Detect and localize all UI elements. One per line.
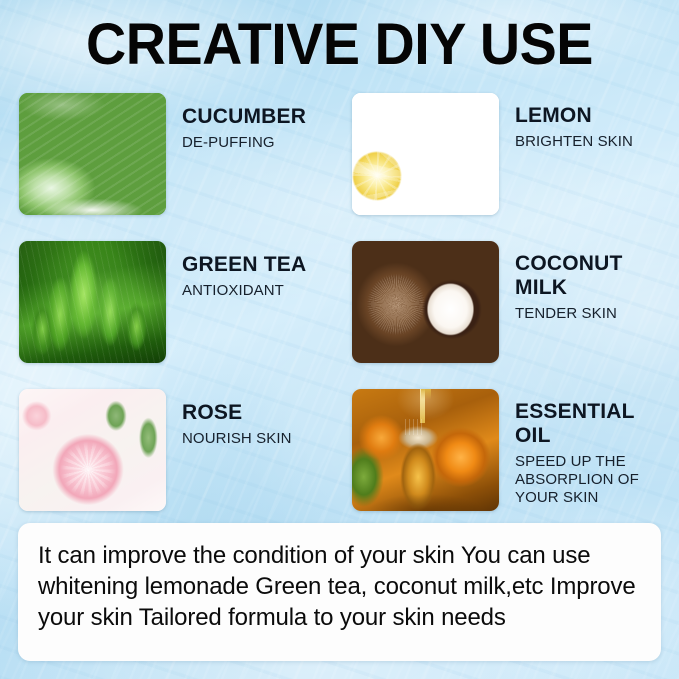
benefit-name: ROSE xyxy=(182,401,292,425)
benefit-item-cucumber: CUCUMBER DE-PUFFING xyxy=(19,93,337,215)
rose-photo-icon xyxy=(19,389,166,511)
benefit-text-lemon: LEMON BRIGHTEN SKIN xyxy=(499,93,633,151)
benefits-row: CUCUMBER DE-PUFFING LEMON BRIGHTEN SKIN xyxy=(0,93,679,241)
benefit-description: NOURISH SKIN xyxy=(182,430,292,448)
page-title: CREATIVE DIY USE xyxy=(14,14,666,76)
benefit-description: ANTIOXIDANT xyxy=(182,282,306,300)
benefit-text-green-tea: GREEN TEA ANTIOXIDANT xyxy=(166,241,306,300)
essential-oil-thumbnail xyxy=(352,389,499,511)
benefit-name: CUCUMBER xyxy=(182,105,306,129)
benefit-text-cucumber: CUCUMBER DE-PUFFING xyxy=(166,93,306,152)
caption-panel: It can improve the condition of your ski… xyxy=(18,523,661,661)
essential-oil-photo-icon xyxy=(352,389,499,511)
benefit-name: LEMON xyxy=(515,104,633,128)
benefit-description: DE-PUFFING xyxy=(182,134,306,152)
coconut-photo-icon xyxy=(352,241,499,363)
benefit-name: COCONUT MILK xyxy=(515,252,623,300)
coconut-thumbnail xyxy=(352,241,499,363)
benefit-text-rose: ROSE NOURISH SKIN xyxy=(166,389,292,448)
green-tea-photo-icon xyxy=(19,241,166,363)
benefit-item-green-tea: GREEN TEA ANTIOXIDANT xyxy=(19,241,337,363)
benefits-grid: CUCUMBER DE-PUFFING LEMON BRIGHTEN SKIN xyxy=(0,93,679,537)
benefit-name: ESSENTIAL OIL xyxy=(515,400,639,448)
benefit-item-rose: ROSE NOURISH SKIN xyxy=(19,389,337,511)
lemon-photo-icon xyxy=(352,93,499,215)
product-infographic-poster: CREATIVE DIY USE CUCUMBER DE-PUFFING LEM… xyxy=(0,0,679,679)
benefit-item-lemon: LEMON BRIGHTEN SKIN xyxy=(352,93,672,215)
benefit-description: TENDER SKIN xyxy=(515,305,623,323)
benefit-description: SPEED UP THE ABSORPLION OF YOUR SKIN xyxy=(515,453,639,507)
cucumber-photo-icon xyxy=(19,93,166,215)
benefit-name: GREEN TEA xyxy=(182,253,306,277)
benefit-text-coconut-milk: COCONUT MILK TENDER SKIN xyxy=(499,241,623,323)
cucumber-thumbnail xyxy=(19,93,166,215)
benefit-text-essential-oil: ESSENTIAL OIL SPEED UP THE ABSORPLION OF… xyxy=(499,389,639,507)
green-tea-thumbnail xyxy=(19,241,166,363)
benefits-row: GREEN TEA ANTIOXIDANT COCONUT MILK TENDE… xyxy=(0,241,679,389)
lemon-thumbnail xyxy=(352,93,499,215)
benefit-item-essential-oil: ESSENTIAL OIL SPEED UP THE ABSORPLION OF… xyxy=(352,389,672,511)
benefit-item-coconut-milk: COCONUT MILK TENDER SKIN xyxy=(352,241,672,363)
benefit-description: BRIGHTEN SKIN xyxy=(515,133,633,151)
caption-text: It can improve the condition of your ski… xyxy=(38,540,641,633)
benefits-row: ROSE NOURISH SKIN ESSENTIAL OIL SPEED UP… xyxy=(0,389,679,537)
rose-thumbnail xyxy=(19,389,166,511)
